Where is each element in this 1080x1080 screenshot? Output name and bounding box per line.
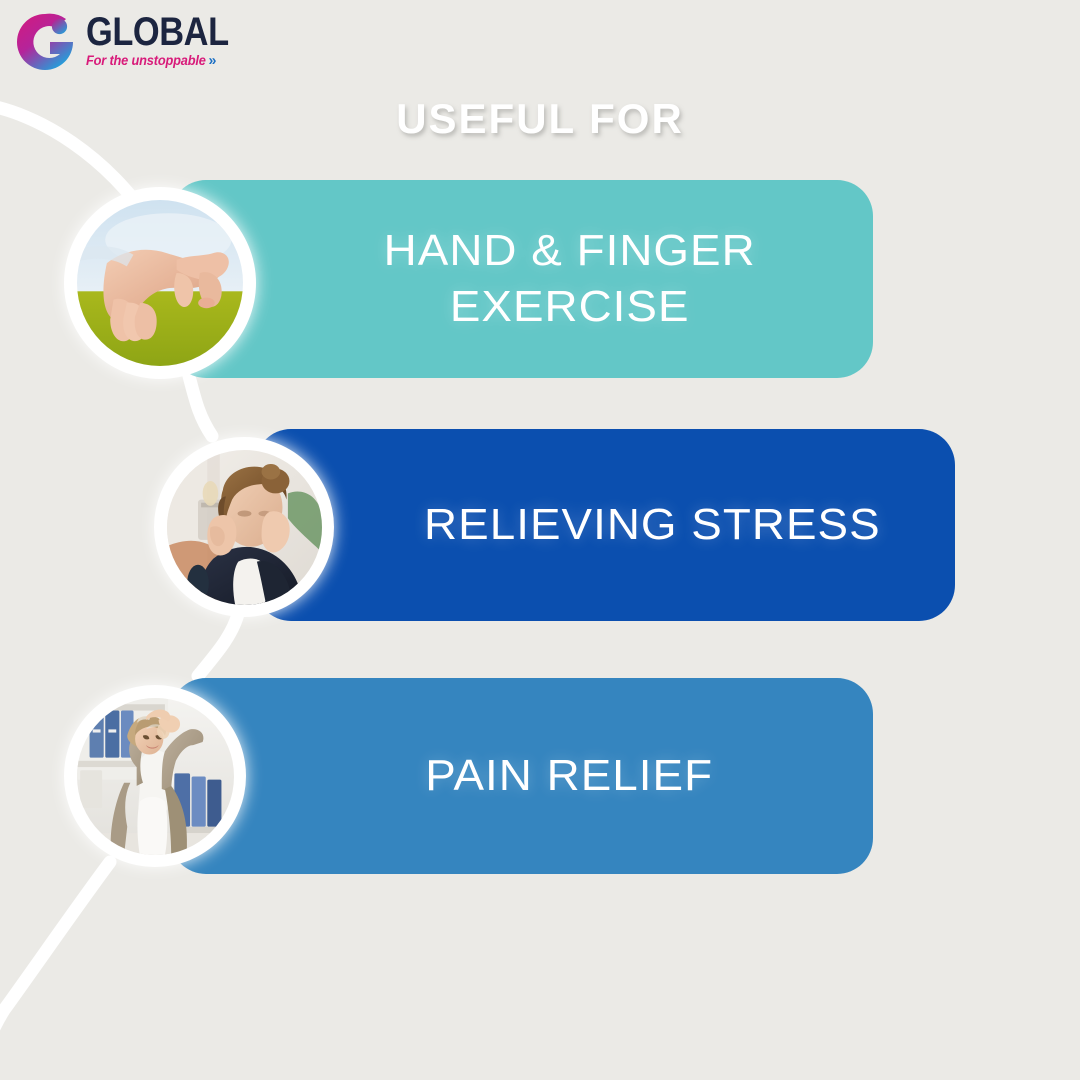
medallion-hand-finger-exercise[interactable]: [64, 187, 256, 379]
card-label-line1: HAND & FINGER: [383, 226, 755, 275]
page-title: USEFUL FOR: [0, 95, 1080, 143]
stressed-woman-photo: [167, 450, 322, 605]
brand-wordmark: GLOBAL: [86, 12, 229, 52]
woman-stretching-office-photo: [77, 698, 234, 855]
brand-logo[interactable]: GLOBAL For the unstoppable»: [14, 8, 254, 86]
global-g-logo-icon: [14, 11, 76, 73]
card-relieving-stress[interactable]: RELIEVING STRESS: [255, 429, 955, 621]
medallion-relieving-stress[interactable]: [154, 437, 334, 617]
hands-stretching-photo: [77, 200, 243, 366]
card-label: HAND & FINGER EXERCISE: [269, 223, 774, 336]
card-label-line2: EXERCISE: [449, 282, 689, 331]
card-pain-relief[interactable]: PAIN RELIEF: [170, 678, 873, 874]
brand-tagline: For the unstoppable»: [86, 53, 213, 68]
medallion-pain-relief[interactable]: [64, 685, 246, 867]
poster-canvas: GLOBAL For the unstoppable» USEFUL FOR H…: [0, 0, 1080, 1080]
card-label: RELIEVING STRESS: [310, 497, 900, 553]
brand-tagline-text: For the unstoppable: [86, 53, 206, 68]
card-label: PAIN RELIEF: [311, 748, 732, 804]
double-chevron-icon: »: [209, 53, 213, 68]
card-hand-finger-exercise[interactable]: HAND & FINGER EXERCISE: [170, 180, 873, 378]
